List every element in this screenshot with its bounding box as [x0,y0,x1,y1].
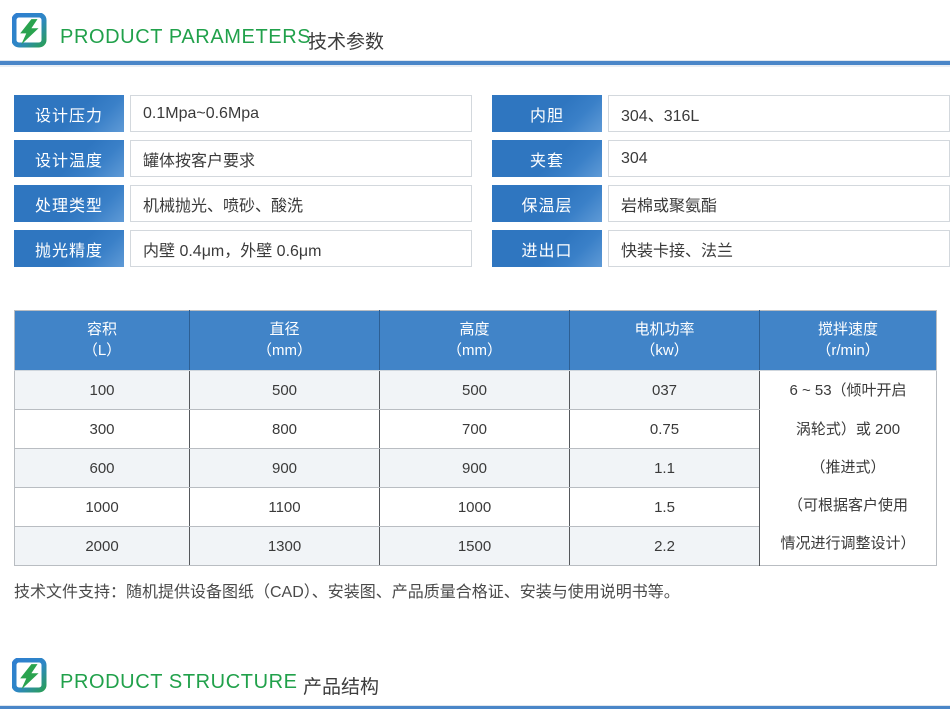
section-header-product-parameters: PRODUCT PARAMETERS 技术参数 [0,0,950,64]
technical-document-note: 技术文件支持：随机提供设备图纸（CAD）、安装图、产品质量合格证、安装与使用说明… [14,578,680,602]
parameter-row: 内胆 304、316L [492,95,950,132]
parameter-value: 罐体按客户要求 [130,140,472,177]
header-name: 电机功率 [571,320,758,340]
parameter-row: 设计压力 0.1Mpa~0.6Mpa [14,95,472,132]
cell-power: 0.75 [570,410,760,449]
section-title-en: PRODUCT PARAMETERS [60,26,311,49]
parameter-value: 岩棉或聚氨酯 [608,185,950,222]
table-header-row: 容积 （L） 直径 （mm） 高度 （mm） 电机功率 （kw） 搅拌速度 [15,311,937,371]
section-header-product-structure: PRODUCT STRUCTURE 产品结构 [0,645,950,709]
cell-height: 1000 [380,488,570,527]
section-divider [0,60,950,65]
cell-height: 700 [380,410,570,449]
specification-table: 容积 （L） 直径 （mm） 高度 （mm） 电机功率 （kw） 搅拌速度 [14,310,937,566]
header-name: 直径 [191,320,378,340]
stir-speed-line: 情况进行调整设计） [764,525,932,563]
product-parameters-page: PRODUCT PARAMETERS 技术参数 设计压力 0.1Mpa~0.6M… [0,0,950,709]
section-title-cn: 产品结构 [303,672,379,699]
cell-height: 1500 [380,527,570,566]
parameter-label: 内胆 [492,95,602,132]
parameter-row: 处理类型 机械抛光、喷砂、酸洗 [14,185,472,222]
parameter-row: 进出口 快装卡接、法兰 [492,230,950,267]
table-header-cell-volume: 容积 （L） [15,311,190,371]
parameter-value: 0.1Mpa~0.6Mpa [130,95,472,132]
parameter-label: 处理类型 [14,185,124,222]
logo-square-lightning-icon [12,13,48,49]
parameter-value: 内壁 0.4μm，外壁 0.6μm [130,230,472,267]
stir-speed-line: （推进式） [764,449,932,487]
cell-height: 900 [380,449,570,488]
parameter-row: 保温层 岩棉或聚氨酯 [492,185,950,222]
cell-volume: 300 [15,410,190,449]
stir-speed-line: （可根据客户使用 [764,487,932,525]
parameter-row: 夹套 304 [492,140,950,177]
table-header-cell-power: 电机功率 （kw） [570,311,760,371]
cell-volume: 1000 [15,488,190,527]
cell-power: 1.1 [570,449,760,488]
cell-power: 037 [570,371,760,410]
section-title-en: PRODUCT STRUCTURE [60,671,298,694]
parameter-label: 夹套 [492,140,602,177]
parameter-row: 抛光精度 内壁 0.4μm，外壁 0.6μm [14,230,472,267]
header-unit: （mm） [381,341,568,361]
cell-power: 2.2 [570,527,760,566]
logo-square-lightning-icon [12,658,48,694]
parameter-column-left: 设计压力 0.1Mpa~0.6Mpa 设计温度 罐体按客户要求 处理类型 机械抛… [14,95,472,275]
cell-diameter: 900 [190,449,380,488]
cell-volume: 2000 [15,527,190,566]
header-unit: （L） [16,341,188,361]
stir-speed-line: 6 ~ 53（倾叶开启 [764,372,932,410]
cell-diameter: 800 [190,410,380,449]
parameter-value: 机械抛光、喷砂、酸洗 [130,185,472,222]
cell-volume: 600 [15,449,190,488]
section-title-cn: 技术参数 [308,27,384,54]
parameter-label: 抛光精度 [14,230,124,267]
table-header-cell-diameter: 直径 （mm） [190,311,380,371]
cell-power: 1.5 [570,488,760,527]
header-unit: （r/min） [761,341,935,361]
table-header-cell-height: 高度 （mm） [380,311,570,371]
cell-height: 500 [380,371,570,410]
parameter-row: 设计温度 罐体按客户要求 [14,140,472,177]
parameter-value: 304、316L [608,95,950,132]
parameter-value: 304 [608,140,950,177]
parameter-value: 快装卡接、法兰 [608,230,950,267]
parameter-label: 设计压力 [14,95,124,132]
parameter-label: 设计温度 [14,140,124,177]
section-divider [0,705,950,709]
table-header-cell-stir-speed: 搅拌速度 （r/min） [760,311,937,371]
cell-volume: 100 [15,371,190,410]
stir-speed-line: 涡轮式）或 200 [764,411,932,449]
cell-diameter: 500 [190,371,380,410]
header-name: 搅拌速度 [761,320,935,340]
header-unit: （mm） [191,341,378,361]
parameter-column-right: 内胆 304、316L 夹套 304 保温层 岩棉或聚氨酯 进出口 快装卡接、法… [492,95,950,275]
header-name: 容积 [16,320,188,340]
header-unit: （kw） [571,341,758,361]
cell-diameter: 1100 [190,488,380,527]
cell-diameter: 1300 [190,527,380,566]
cell-stir-speed-merged: 6 ~ 53（倾叶开启 涡轮式）或 200 （推进式） （可根据客户使用 情况进… [760,371,937,566]
parameter-label: 保温层 [492,185,602,222]
parameter-rows: 设计压力 0.1Mpa~0.6Mpa 设计温度 罐体按客户要求 处理类型 机械抛… [0,95,950,285]
header-name: 高度 [381,320,568,340]
parameter-label: 进出口 [492,230,602,267]
table-row: 100 500 500 037 6 ~ 53（倾叶开启 涡轮式）或 200 （推… [15,371,937,410]
